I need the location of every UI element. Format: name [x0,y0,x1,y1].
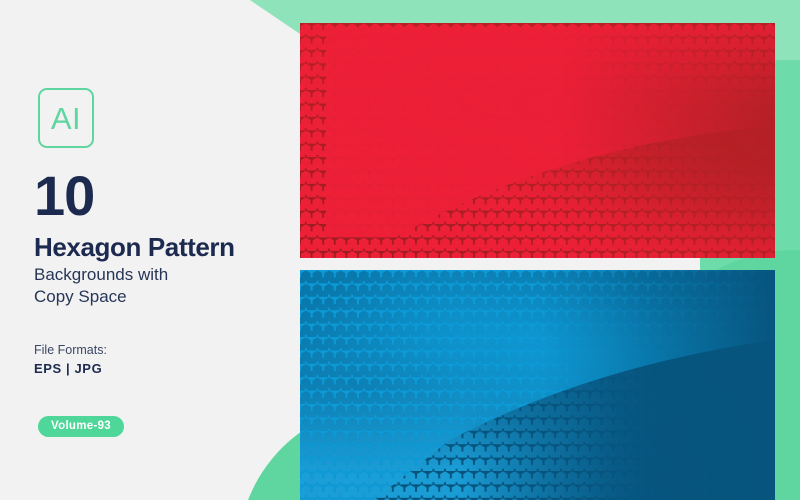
ai-logo-icon: AI [38,88,94,148]
page-subtitle: Backgrounds with Copy Space [34,264,284,309]
ai-logo-label: AI [51,103,81,134]
blue-halftone-pattern [300,270,775,500]
info-column: AI 10 Hexagon Pattern Backgrounds with C… [0,0,300,500]
subtitle-line-2: Copy Space [34,286,284,308]
subtitle-line-1: Backgrounds with [34,264,284,286]
poster-canvas: AI 10 Hexagon Pattern Backgrounds with C… [0,0,800,500]
volume-badge: Volume-93 [38,416,124,437]
red-halftone-pattern [300,23,775,258]
file-formats-label: File Formats: [34,343,107,357]
blue-hexagon-preview[interactable] [300,270,775,500]
page-title: Hexagon Pattern [34,234,235,260]
red-hexagon-preview[interactable] [300,23,775,258]
item-count: 10 [34,168,94,224]
file-formats-value: EPS | JPG [34,361,102,376]
